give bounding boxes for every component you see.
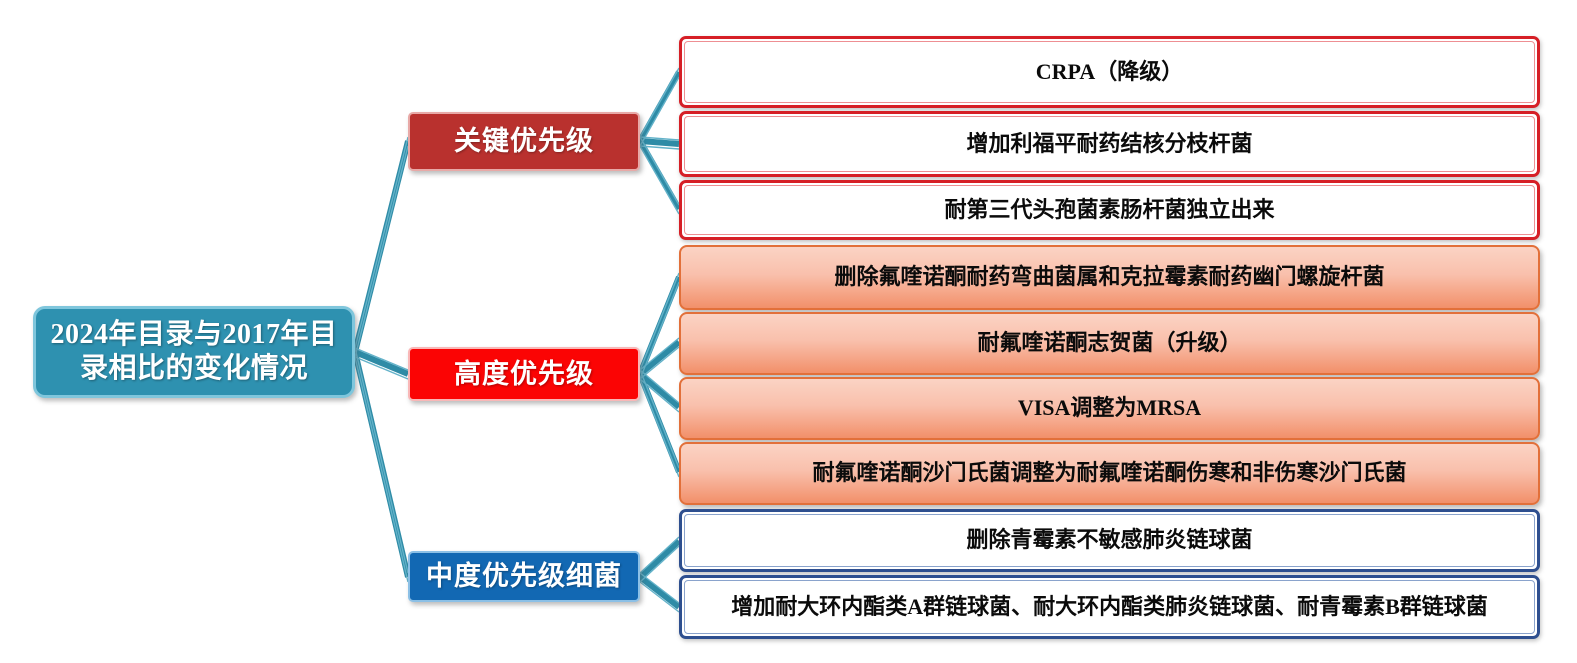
item-node-high-1[interactable]: 耐氟喹诺酮志贺菌（升级） <box>679 312 1540 375</box>
connector-medium-item-1 <box>640 577 679 607</box>
category-label-medium: 中度优先级细菌 <box>410 560 638 593</box>
connector-high-item-2 <box>640 374 679 407</box>
item-label-critical-2: 耐第三代头孢菌素肠杆菌独立出来 <box>682 197 1537 224</box>
connector-root-critical <box>355 141 408 352</box>
item-node-high-3[interactable]: 耐氟喹诺酮沙门氏菌调整为耐氟喹诺酮伤寒和非伤寒沙门氏菌 <box>679 442 1540 505</box>
mind-map-diagram: 2024年目录与2017年目录相比的变化情况 关键优先级 高度优先级 中度优先级… <box>0 0 1577 663</box>
item-label-medium-0: 删除青霉素不敏感肺炎链球菌 <box>682 527 1537 554</box>
category-node-medium[interactable]: 中度优先级细菌 <box>408 551 640 602</box>
connector-medium-item-0 <box>640 541 679 577</box>
item-label-critical-1: 增加利福平耐药结核分枝杆菌 <box>682 131 1537 158</box>
connector-root-medium <box>355 352 408 577</box>
category-node-high[interactable]: 高度优先级 <box>408 347 640 401</box>
item-label-high-2: VISA调整为MRSA <box>681 395 1538 422</box>
category-node-critical[interactable]: 关键优先级 <box>408 112 640 171</box>
connector-root-high <box>355 352 408 374</box>
item-node-critical-0[interactable]: CRPA（降级） <box>679 36 1540 108</box>
item-label-critical-0: CRPA（降级） <box>682 59 1537 86</box>
item-label-high-3: 耐氟喹诺酮沙门氏菌调整为耐氟喹诺酮伤寒和非伤寒沙门氏菌 <box>681 460 1538 487</box>
item-node-critical-1[interactable]: 增加利福平耐药结核分枝杆菌 <box>679 111 1540 177</box>
item-node-high-2[interactable]: VISA调整为MRSA <box>679 377 1540 440</box>
item-node-critical-2[interactable]: 耐第三代头孢菌素肠杆菌独立出来 <box>679 180 1540 240</box>
item-node-medium-0[interactable]: 删除青霉素不敏感肺炎链球菌 <box>679 509 1540 572</box>
connector-high-item-0 <box>640 277 679 374</box>
connector-critical-item-0 <box>640 72 679 141</box>
root-node[interactable]: 2024年目录与2017年目录相比的变化情况 <box>33 306 355 398</box>
category-label-high: 高度优先级 <box>410 358 638 391</box>
category-label-critical: 关键优先级 <box>410 125 638 158</box>
connector-critical-item-2 <box>640 141 679 209</box>
item-label-high-1: 耐氟喹诺酮志贺菌（升级） <box>681 330 1538 357</box>
item-label-high-0: 删除氟喹诺酮耐药弯曲菌属和克拉霉素耐药幽门螺旋杆菌 <box>681 264 1538 291</box>
connector-high-item-1 <box>640 342 679 374</box>
root-node-label: 2024年目录与2017年目录相比的变化情况 <box>36 318 352 386</box>
item-label-medium-1: 增加耐大环内酯类A群链球菌、耐大环内酯类肺炎链球菌、耐青霉素B群链球菌 <box>682 594 1537 621</box>
connector-critical-item-1 <box>640 141 679 144</box>
item-node-medium-1[interactable]: 增加耐大环内酯类A群链球菌、耐大环内酯类肺炎链球菌、耐青霉素B群链球菌 <box>679 575 1540 639</box>
item-node-high-0[interactable]: 删除氟喹诺酮耐药弯曲菌属和克拉霉素耐药幽门螺旋杆菌 <box>679 245 1540 310</box>
connector-high-item-3 <box>640 374 679 472</box>
